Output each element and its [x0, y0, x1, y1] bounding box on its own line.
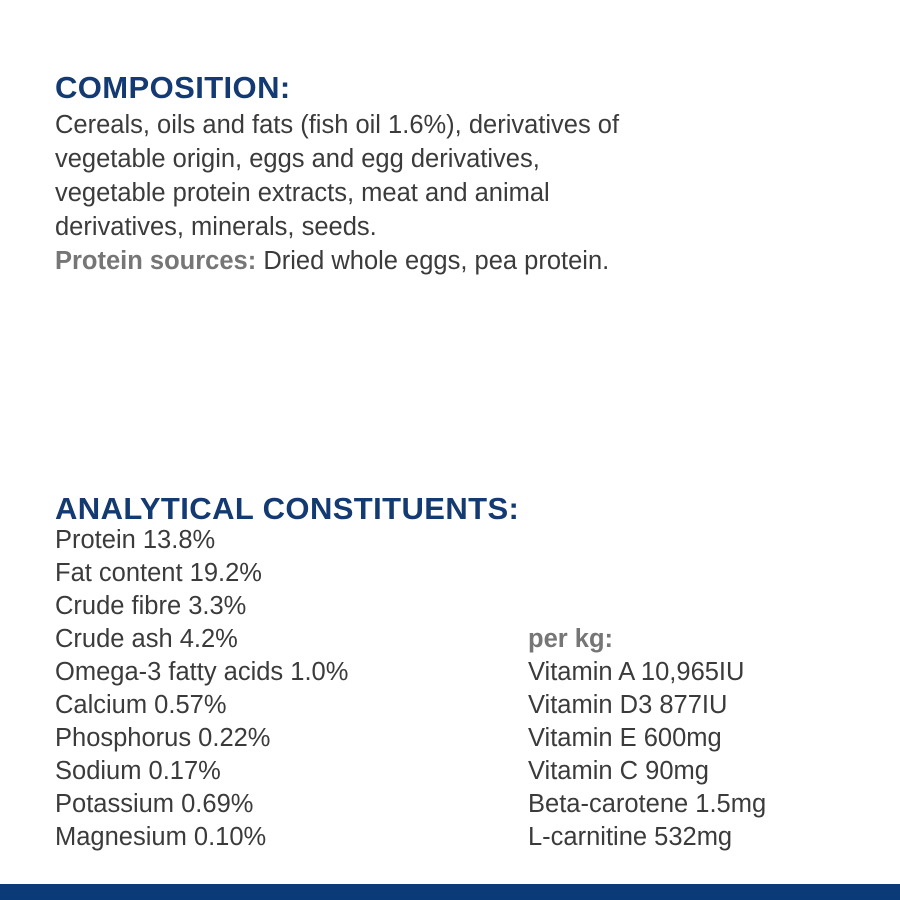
constituent-row: Fat content 19.2%: [55, 557, 505, 590]
per-kg-label: per kg:: [528, 623, 858, 656]
constituent-row: Crude fibre 3.3%: [55, 590, 505, 623]
composition-line: Cereals, oils and fats (fish oil 1.6%), …: [55, 108, 845, 142]
analytical-constituents-heading: ANALYTICAL CONSTITUENTS:: [55, 491, 519, 527]
constituent-row: Vitamin E 600mg: [528, 722, 858, 755]
constituent-row: Crude ash 4.2%: [55, 623, 505, 656]
composition-text-block: Cereals, oils and fats (fish oil 1.6%), …: [55, 108, 845, 278]
constituents-right-column: per kg: Vitamin A 10,965IU Vitamin D3 87…: [528, 623, 858, 854]
protein-sources-value: Dried whole eggs, pea protein.: [263, 247, 609, 275]
composition-line: derivatives, minerals, seeds.: [55, 210, 845, 244]
protein-sources-label: Protein sources:: [55, 247, 256, 275]
bottom-accent-bar: [0, 884, 900, 900]
analytical-constituents-block: Protein 13.8% Fat content 19.2% Crude fi…: [55, 524, 855, 864]
constituent-row: Protein 13.8%: [55, 524, 505, 557]
constituent-row: L-carnitine 532mg: [528, 821, 858, 854]
constituent-row: Vitamin C 90mg: [528, 755, 858, 788]
constituent-row: Sodium 0.17%: [55, 755, 505, 788]
constituent-row: Vitamin D3 877IU: [528, 689, 858, 722]
composition-line: vegetable protein extracts, meat and ani…: [55, 176, 845, 210]
constituent-row: Potassium 0.69%: [55, 788, 505, 821]
constituent-row: Beta-carotene 1.5mg: [528, 788, 858, 821]
constituent-row: Omega-3 fatty acids 1.0%: [55, 656, 505, 689]
constituents-left-column: Protein 13.8% Fat content 19.2% Crude fi…: [55, 524, 505, 854]
protein-sources-line: Protein sources: Dried whole eggs, pea p…: [55, 244, 845, 278]
constituent-row: Phosphorus 0.22%: [55, 722, 505, 755]
composition-line: vegetable origin, eggs and egg derivativ…: [55, 142, 845, 176]
composition-heading: COMPOSITION:: [55, 70, 291, 106]
constituent-row: Vitamin A 10,965IU: [528, 656, 858, 689]
product-label-panel: COMPOSITION: Cereals, oils and fats (fis…: [0, 0, 900, 900]
constituent-row: Calcium 0.57%: [55, 689, 505, 722]
constituent-row: Magnesium 0.10%: [55, 821, 505, 854]
